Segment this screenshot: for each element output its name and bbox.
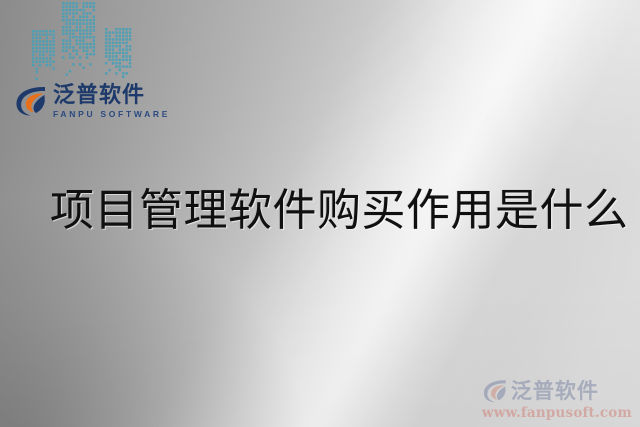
pixel-skyline-icon: [32, 0, 146, 84]
fanpu-swoosh-logo-icon: [14, 84, 48, 118]
watermark-url: www.fanpusoft.com: [482, 405, 632, 421]
watermark: 泛普软件 www.fanpusoft.com: [482, 378, 632, 421]
banner-canvas: 泛普软件 FANPU SOFTWARE 项目管理软件购买作用是什么 泛普软件 w…: [0, 0, 640, 427]
brand-name-en: FANPU SOFTWARE: [53, 109, 170, 120]
brand-text-block: 泛普软件 FANPU SOFTWARE: [53, 84, 170, 120]
brand-name-cn: 泛普软件: [53, 84, 170, 108]
watermark-logo-row: 泛普软件: [482, 378, 632, 404]
brand-logo: 泛普软件 FANPU SOFTWARE: [14, 84, 170, 120]
watermark-name-cn: 泛普软件: [511, 379, 599, 403]
page-title: 项目管理软件购买作用是什么: [50, 184, 629, 238]
fanpu-swoosh-logo-muted-icon: [482, 378, 508, 404]
